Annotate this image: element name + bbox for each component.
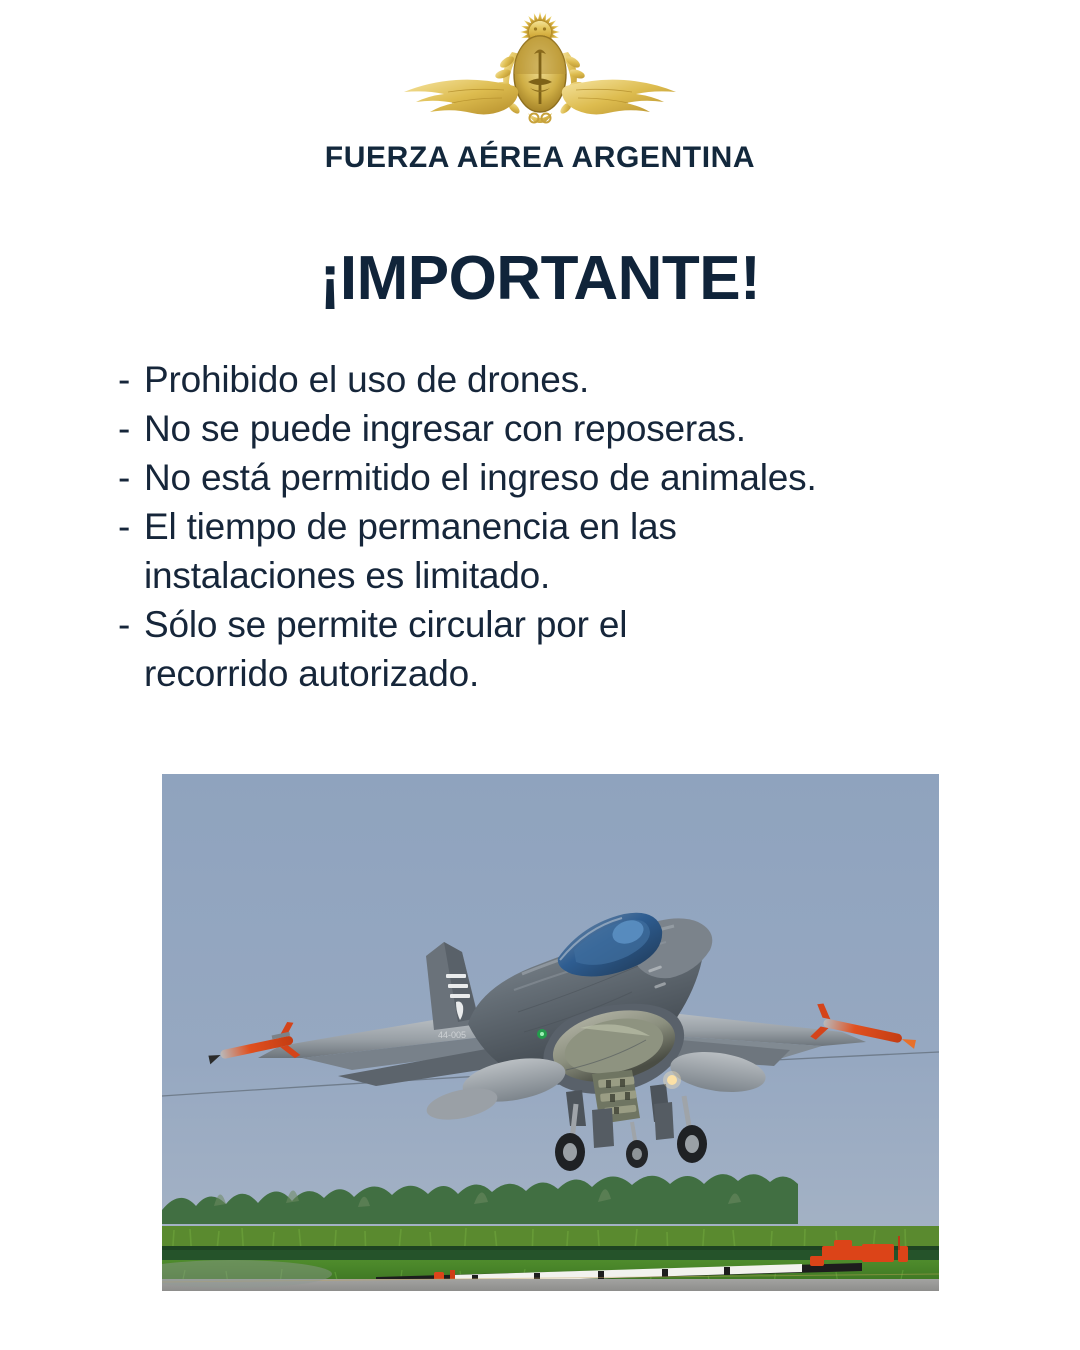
list-item-text: No está permitido el ingreso de animales… [144, 453, 1018, 502]
list-item-text: recorrido autorizado. [144, 649, 1018, 698]
list-item: - No está permitido el ingreso de animal… [118, 453, 1018, 502]
list-bullet: - [118, 502, 144, 551]
list-item-text: No se puede ingresar con reposeras. [144, 404, 1018, 453]
list-bullet: - [118, 600, 144, 649]
organization-title: FUERZA AÉREA ARGENTINA [0, 141, 1080, 175]
list-item: - Prohibido el uso de drones. [118, 355, 1018, 404]
list-item: - El tiempo de permanencia en las [118, 502, 1018, 551]
jet-photo: 44-005 [162, 774, 939, 1291]
list-bullet: - [118, 453, 144, 502]
list-item-text: El tiempo de permanencia en las [144, 502, 1018, 551]
tail-marking: 44-005 [438, 1030, 466, 1040]
list-item-continuation: instalaciones es limitado. [118, 551, 1018, 600]
list-item-continuation: recorrido autorizado. [118, 649, 1018, 698]
list-bullet: - [118, 355, 144, 404]
list-item-text: Sólo se permite circular por el [144, 600, 1018, 649]
list-item-text: instalaciones es limitado. [144, 551, 1018, 600]
poster-root: FUERZA AÉREA ARGENTINA ¡IMPORTANTE! - Pr… [0, 0, 1080, 1350]
list-item: - Sólo se permite circular por el [118, 600, 1018, 649]
argentine-air-force-winged-emblem-icon [390, 10, 690, 132]
list-bullet: - [118, 404, 144, 453]
list-item: - No se puede ingresar con reposeras. [118, 404, 1018, 453]
emblem-container [0, 8, 1080, 133]
list-item-text: Prohibido el uso de drones. [144, 355, 1018, 404]
rules-list: - Prohibido el uso de drones. - No se pu… [118, 355, 1018, 698]
page-title: ¡IMPORTANTE! [0, 243, 1080, 314]
f-16-fighter-jet-takeoff-illustration: 44-005 [162, 774, 939, 1291]
